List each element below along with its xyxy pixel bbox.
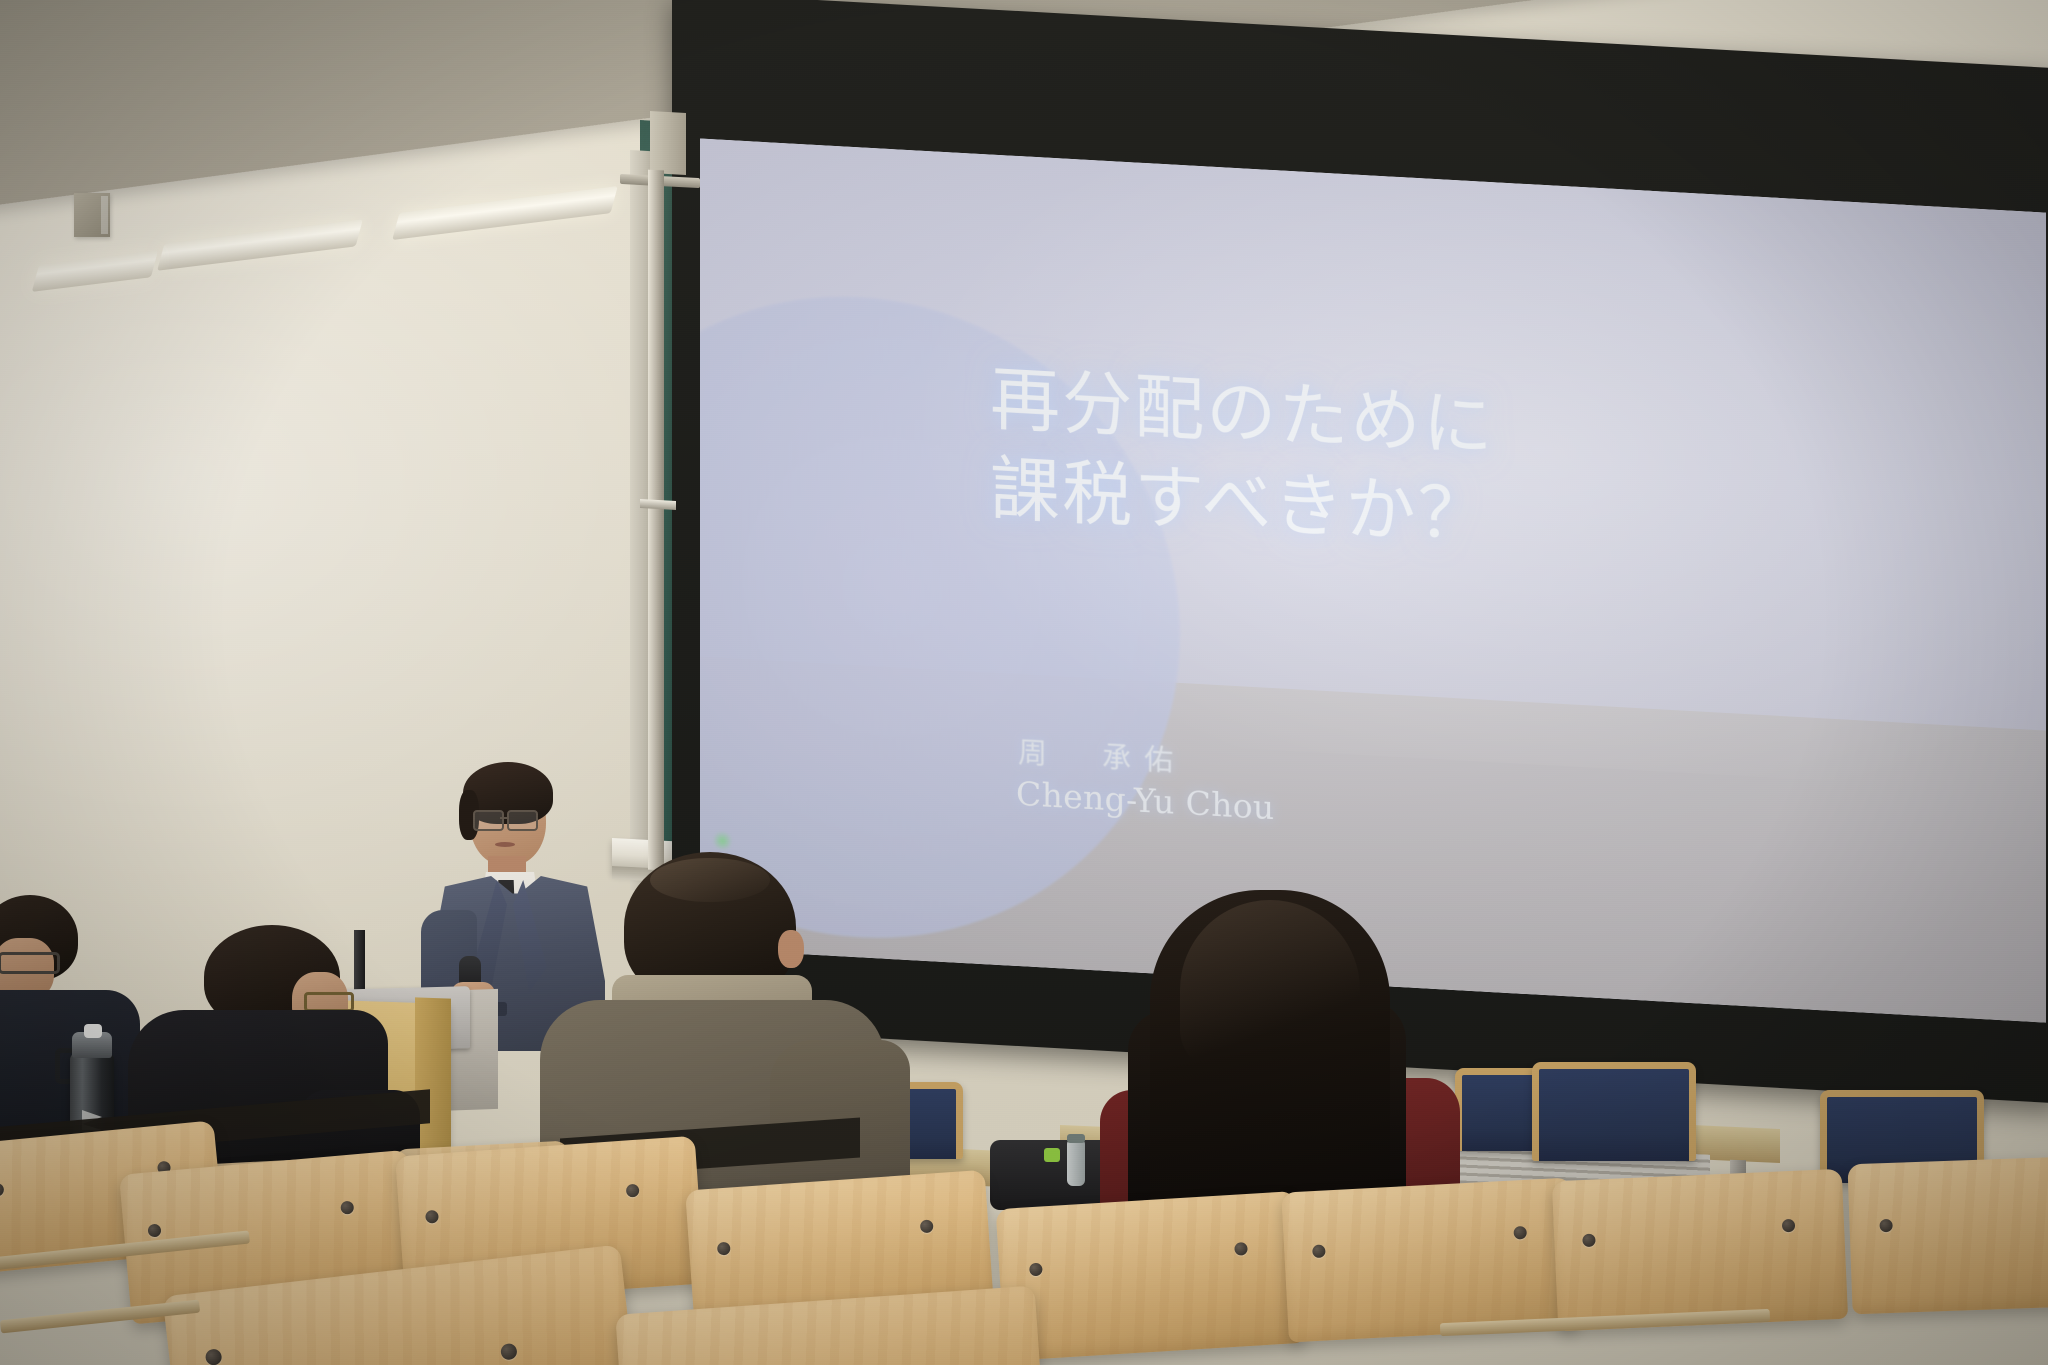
- wooden-chair[interactable]: [1847, 1156, 2048, 1315]
- presenter-mouth: [495, 842, 515, 847]
- attendee-hair-highlight: [650, 858, 770, 902]
- green-bottle-cap: [1044, 1148, 1060, 1162]
- slide-surface: 再分配のために 課税すべきか？ 周 承佑 Cheng-Yu Chou: [700, 139, 2046, 1023]
- glasses-icon: [0, 952, 60, 974]
- screen-rail-clip[interactable]: [640, 499, 676, 510]
- screen-side-rail: [648, 170, 664, 871]
- water-bottle[interactable]: [1067, 1140, 1085, 1186]
- screen-roller-bracket: [650, 111, 686, 175]
- wooden-chair[interactable]: [1552, 1169, 1848, 1332]
- navy-chair[interactable]: [1532, 1062, 1696, 1161]
- bottle-spout: [84, 1024, 102, 1038]
- glasses-icon: [473, 810, 504, 831]
- wall-speaker-fixture: [74, 193, 110, 237]
- slide-vignette: [700, 139, 2046, 1023]
- attendee-ear: [778, 930, 804, 968]
- glasses-icon: [507, 810, 538, 831]
- glasses-icon: [304, 992, 354, 1012]
- wooden-chair[interactable]: [996, 1191, 1305, 1361]
- wooden-chair[interactable]: [1281, 1178, 1578, 1343]
- bottle-cap: [1067, 1134, 1085, 1143]
- attendee-hair-highlight: [1180, 900, 1360, 1070]
- lecture-hall-photo: 再分配のために 課税すべきか？ 周 承佑 Cheng-Yu Chou: [0, 0, 2048, 1365]
- glasses-bridge: [500, 817, 508, 819]
